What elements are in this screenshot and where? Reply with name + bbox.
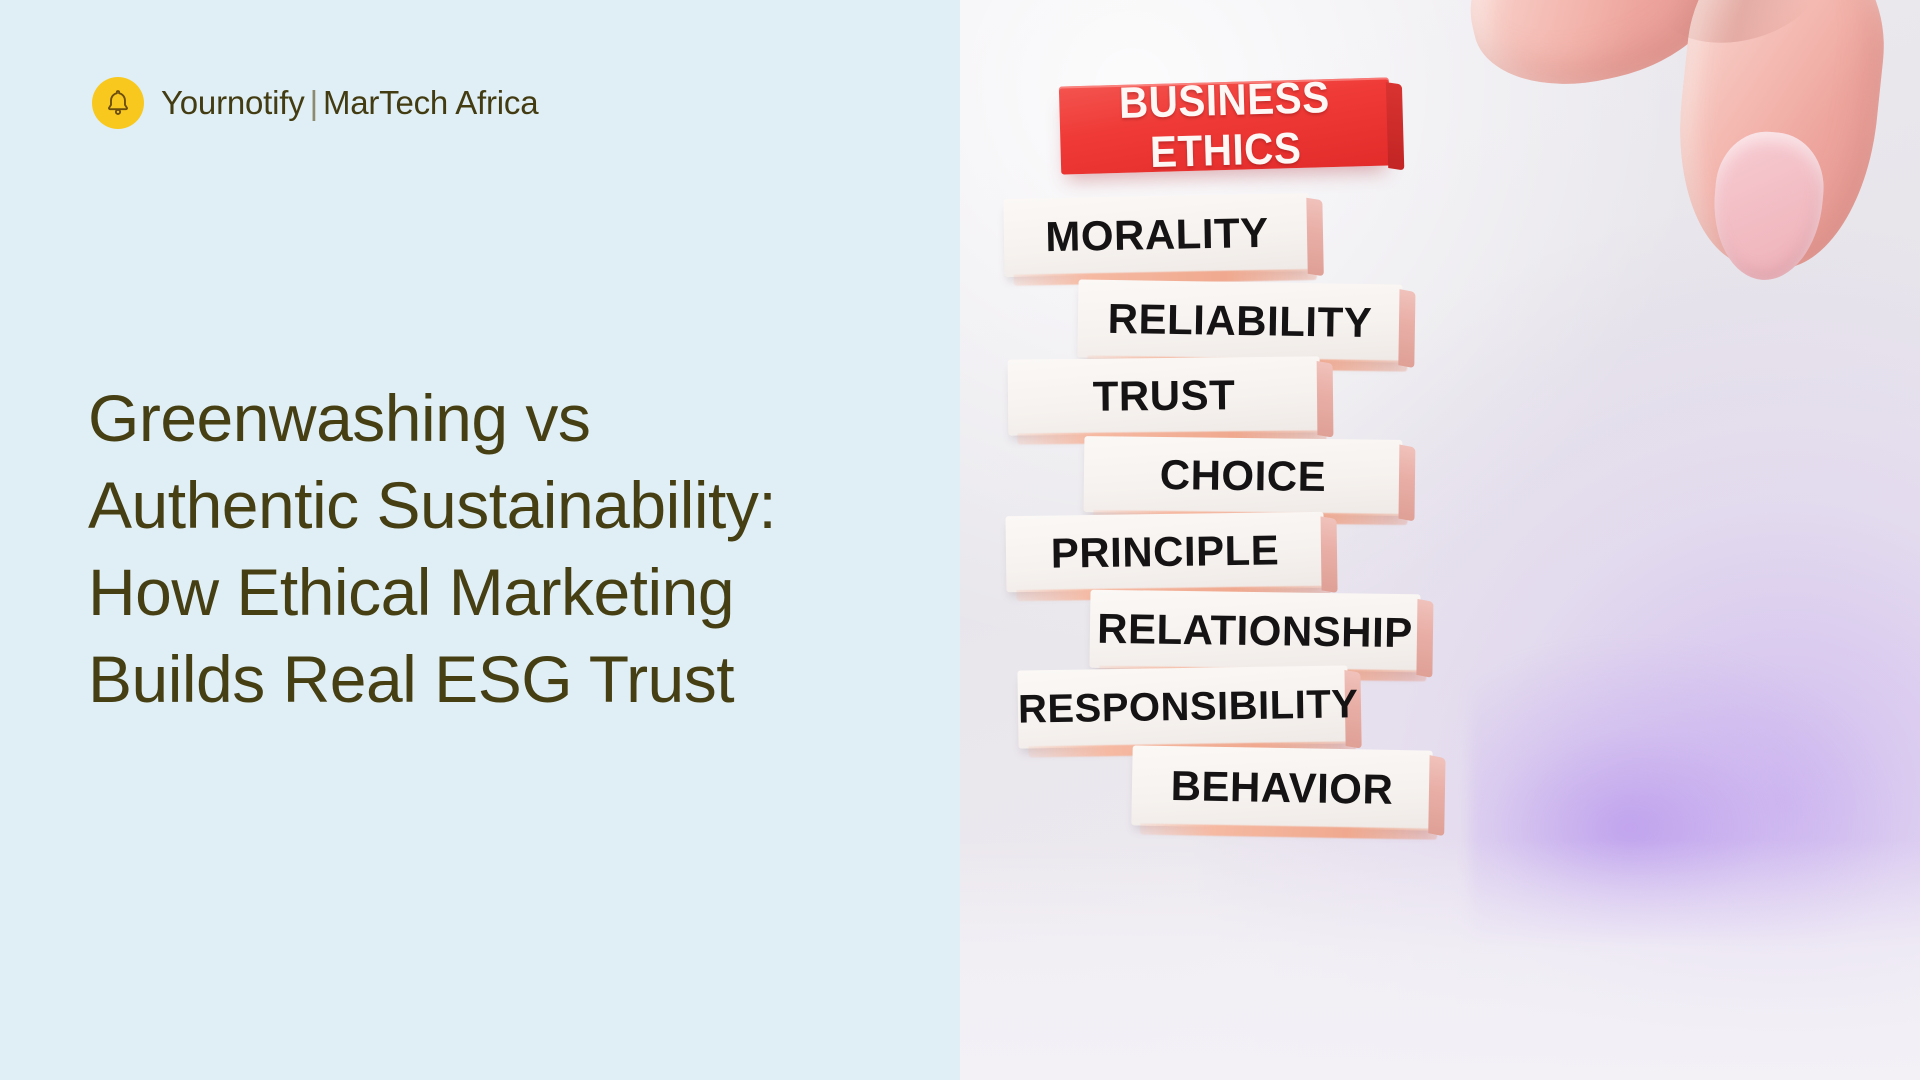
social-card: Yournotify|MarTech Africa Greenwashing v… <box>0 0 1920 1080</box>
block-choice: CHOICE <box>1084 436 1403 516</box>
block-label: RESPONSIBILITY <box>1018 682 1349 732</box>
block-label: BEHAVIOR <box>1132 761 1433 814</box>
block-label: MORALITY <box>1004 208 1311 262</box>
block-label: PRINCIPLE <box>1006 526 1325 578</box>
hero-image-panel: BUSINESS ETHICS MORALITY RELIABILITY TRU… <box>960 0 1920 1080</box>
block-label: TRUST <box>1008 370 1320 421</box>
block-principle: PRINCIPLE <box>1005 512 1324 592</box>
block-label: RELIABILITY <box>1078 294 1403 347</box>
block-label: RELATIONSHIP <box>1090 605 1421 658</box>
left-content-panel: Yournotify|MarTech Africa Greenwashing v… <box>0 0 960 1080</box>
block-trust: TRUST <box>1008 356 1321 435</box>
block-side <box>1386 82 1404 170</box>
headline-line-4: Builds Real ESG Trust <box>88 636 918 723</box>
brand-text: Yournotify|MarTech Africa <box>161 84 538 122</box>
headline-line-2: Authentic Sustainability: <box>88 462 918 549</box>
bell-icon <box>92 77 144 129</box>
brand-publication: MarTech Africa <box>323 84 538 121</box>
headline-line-3: How Ethical Marketing <box>88 549 918 636</box>
hand-illustration <box>1470 0 1920 210</box>
block-responsibility: RESPONSIBILITY <box>1017 665 1348 748</box>
headline-line-1: Greenwashing vs <box>88 375 918 462</box>
block-reliability: RELIABILITY <box>1077 279 1402 362</box>
brand-separator: | <box>305 84 323 121</box>
block-business-ethics: BUSINESS ETHICS <box>1059 77 1391 174</box>
brand-lockup[interactable]: Yournotify|MarTech Africa <box>92 77 538 129</box>
photo-floor-gradient <box>960 840 1920 1080</box>
block-behavior: BEHAVIOR <box>1131 745 1432 830</box>
business-ethics-photo: BUSINESS ETHICS MORALITY RELIABILITY TRU… <box>960 0 1920 1080</box>
block-label: CHOICE <box>1084 450 1403 502</box>
block-label: BUSINESS ETHICS <box>1072 72 1378 180</box>
block-relationship: RELATIONSHIP <box>1089 590 1420 673</box>
block-morality: MORALITY <box>1003 193 1310 277</box>
page-title: Greenwashing vs Authentic Sustainability… <box>88 375 918 723</box>
brand-name: Yournotify <box>161 84 305 121</box>
